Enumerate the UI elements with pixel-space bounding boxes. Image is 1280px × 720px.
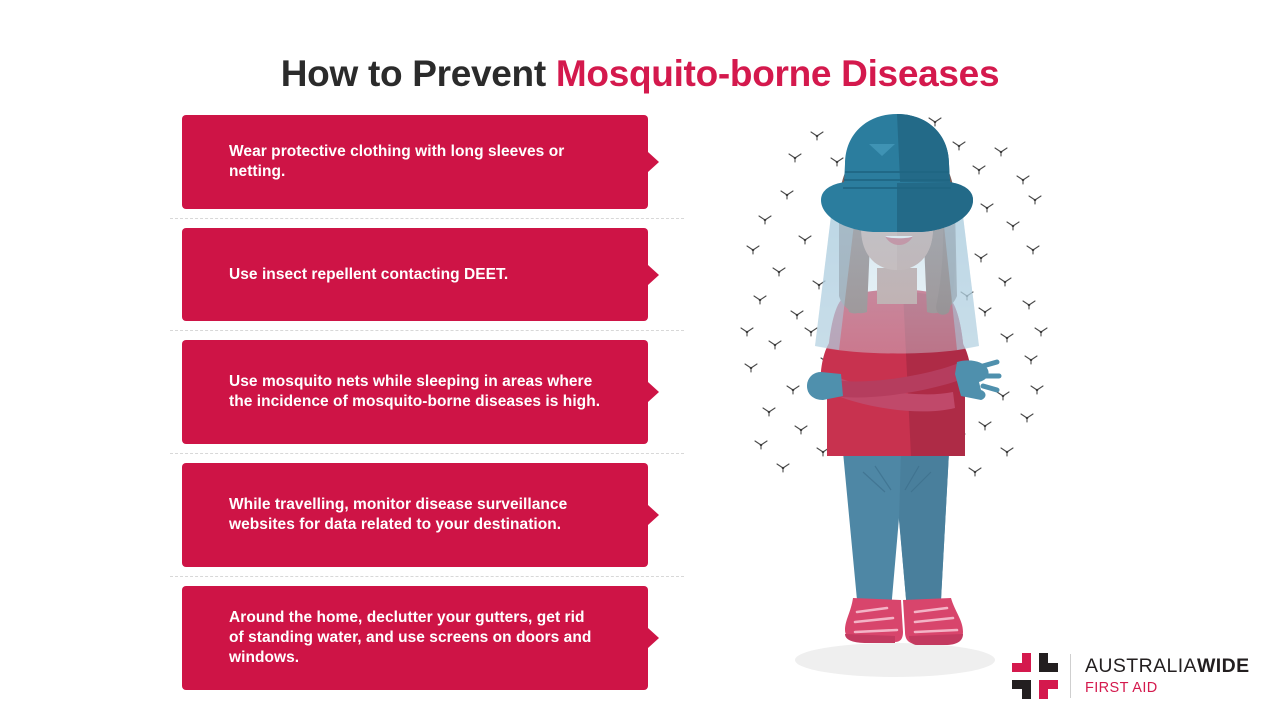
tip-card-2[interactable]: Use insect repellent contacting DEET. bbox=[182, 228, 648, 321]
tip-text: Use mosquito nets while sleeping in area… bbox=[229, 372, 602, 412]
tips-list: Wear protective clothing with long sleev… bbox=[182, 115, 672, 690]
spacer bbox=[182, 454, 672, 463]
tip-row: Use mosquito nets while sleeping in area… bbox=[182, 340, 672, 444]
arrow-right-icon bbox=[648, 628, 659, 648]
tip-row: While travelling, monitor disease survei… bbox=[182, 463, 672, 567]
spacer bbox=[182, 219, 672, 228]
australia-wide-cross-icon bbox=[1010, 651, 1060, 701]
logo-line-primary: AUSTRALIAWIDE bbox=[1085, 657, 1249, 677]
tip-card-3[interactable]: Use mosquito nets while sleeping in area… bbox=[182, 340, 648, 444]
tip-card-5[interactable]: Around the home, declutter your gutters,… bbox=[182, 586, 648, 690]
spacer bbox=[182, 209, 672, 218]
illustration-woman-with-mosquito-net bbox=[735, 100, 1065, 680]
spacer bbox=[182, 444, 672, 453]
logo-australia: AUSTRALIA bbox=[1085, 655, 1197, 677]
page-title: How to Prevent Mosquito-borne Diseases bbox=[0, 53, 1280, 95]
spacer bbox=[182, 331, 672, 340]
page-title-accent: Mosquito-borne Diseases bbox=[556, 53, 999, 94]
tip-row: Use insect repellent contacting DEET. bbox=[182, 228, 672, 321]
page-title-prefix: How to Prevent bbox=[281, 53, 556, 94]
logo-divider bbox=[1070, 654, 1071, 698]
spacer bbox=[182, 567, 672, 576]
bucket-hat bbox=[821, 114, 973, 232]
tip-text: Use insect repellent contacting DEET. bbox=[229, 265, 508, 285]
spacer bbox=[182, 577, 672, 586]
tip-text: While travelling, monitor disease survei… bbox=[229, 495, 602, 535]
tip-row: Wear protective clothing with long sleev… bbox=[182, 115, 672, 209]
arrow-right-icon bbox=[648, 505, 659, 525]
tip-row: Around the home, declutter your gutters,… bbox=[182, 586, 672, 690]
ground-shadow bbox=[795, 643, 995, 677]
tip-text: Around the home, declutter your gutters,… bbox=[229, 608, 602, 668]
brand-logo: AUSTRALIAWIDE FIRST AID bbox=[1010, 648, 1249, 704]
logo-line-secondary: FIRST AID bbox=[1085, 681, 1249, 696]
spacer bbox=[182, 321, 672, 330]
tip-text: Wear protective clothing with long sleev… bbox=[229, 142, 602, 182]
tip-card-1[interactable]: Wear protective clothing with long sleev… bbox=[182, 115, 648, 209]
logo-wide: WIDE bbox=[1197, 655, 1250, 677]
shoes bbox=[845, 598, 963, 645]
legs-jeans bbox=[843, 452, 949, 610]
tip-card-4[interactable]: While travelling, monitor disease survei… bbox=[182, 463, 648, 567]
mosquito-net-veil bbox=[815, 216, 979, 354]
arrow-right-icon bbox=[648, 265, 659, 285]
arrow-right-icon bbox=[648, 382, 659, 402]
glove-left bbox=[807, 372, 843, 400]
logo-wordmark: AUSTRALIAWIDE FIRST AID bbox=[1085, 657, 1249, 696]
arrow-right-icon bbox=[648, 152, 659, 172]
